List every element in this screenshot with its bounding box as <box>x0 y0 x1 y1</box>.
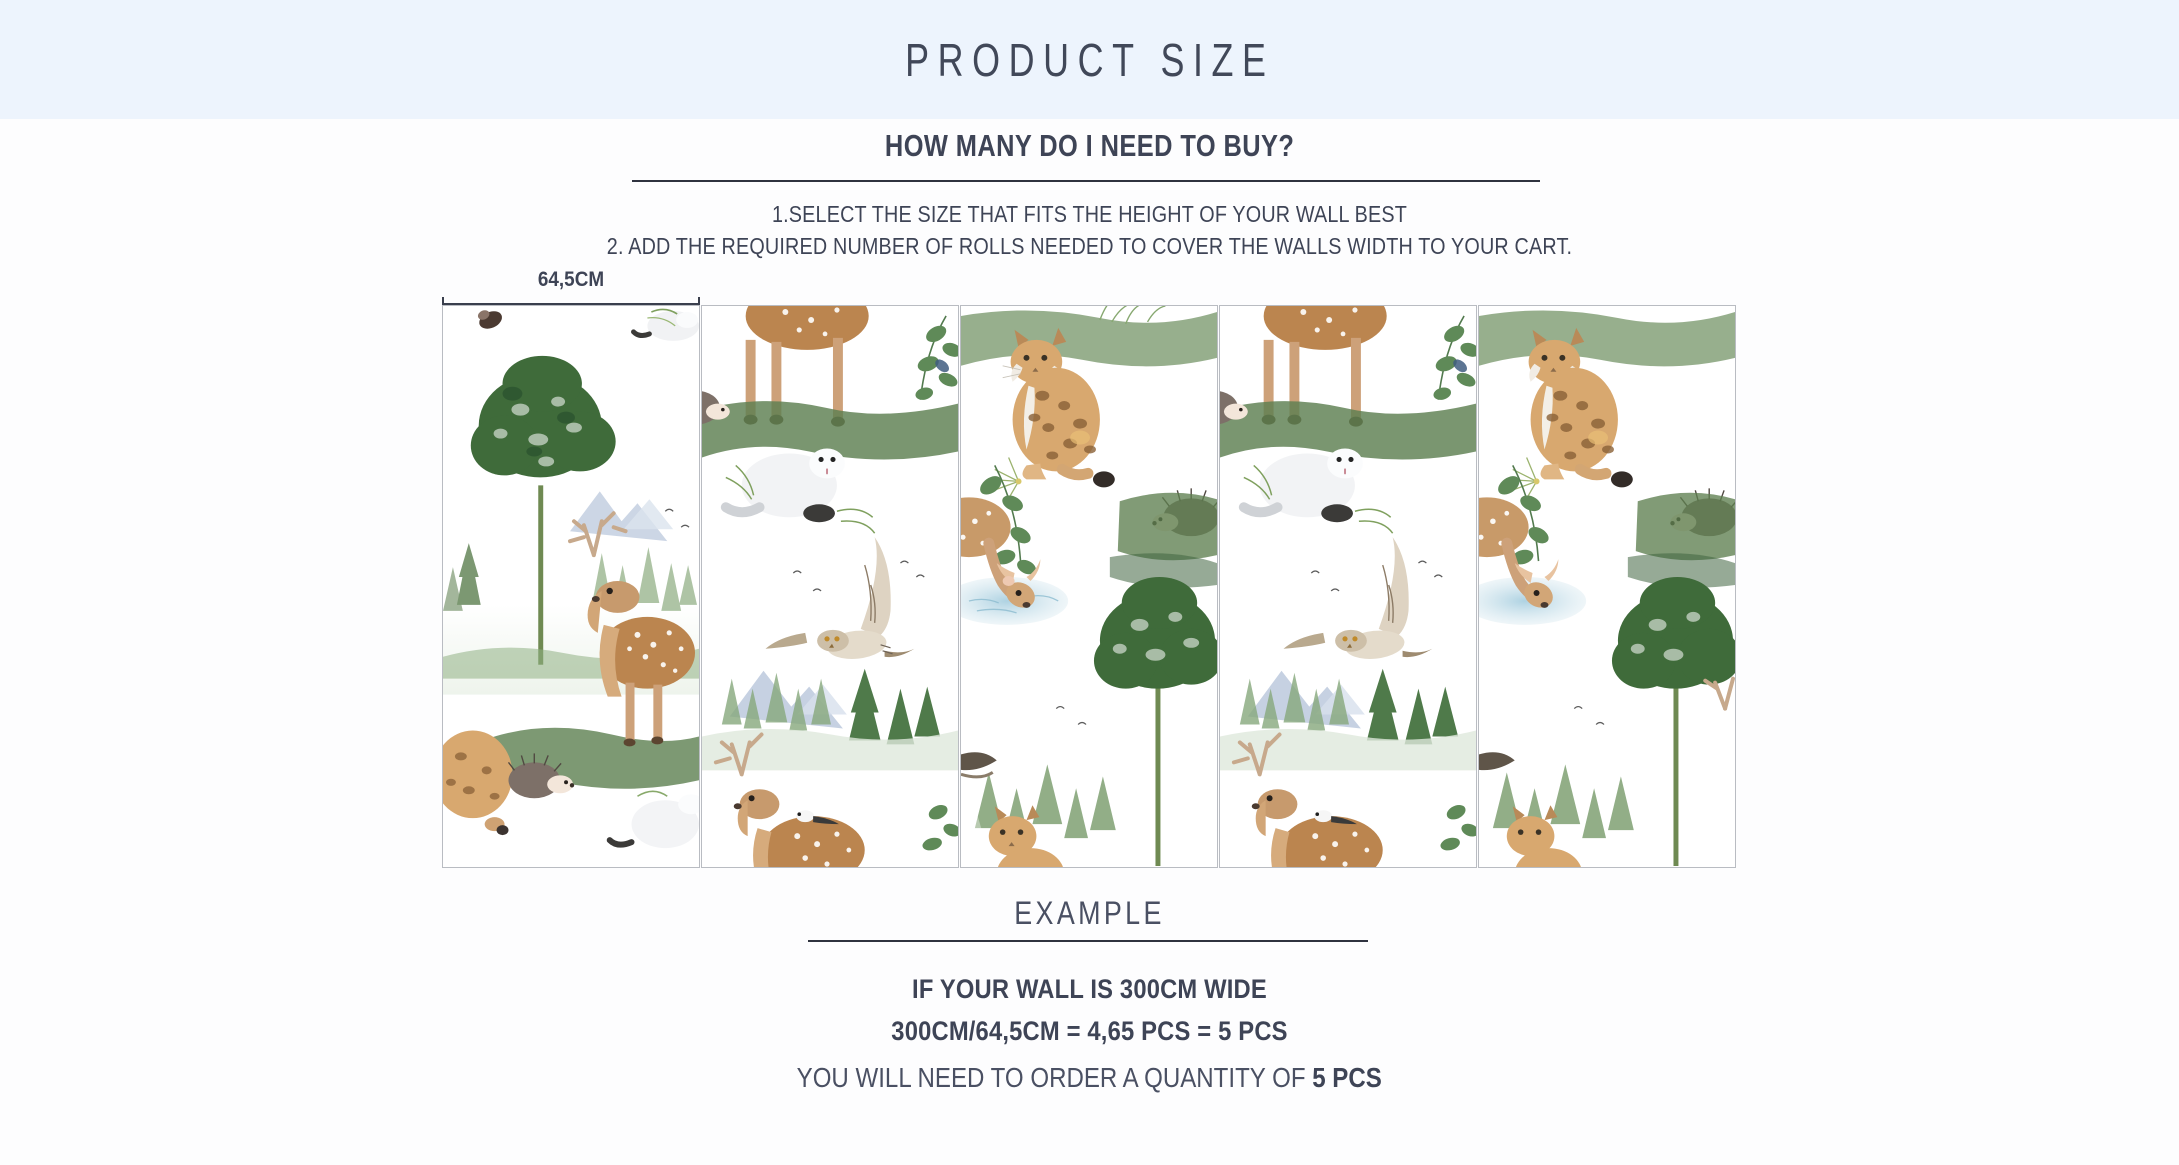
steps-list: 1.SELECT THE SIZE THAT FITS THE HEIGHT O… <box>0 198 2179 262</box>
example-heading: EXAMPLE <box>174 895 2004 932</box>
example-conclusion-value: 5 PCS <box>1312 1062 1382 1093</box>
example-conclusion: YOU WILL NEED TO ORDER A QUANTITY OF 5 P… <box>0 1062 2179 1094</box>
example-conclusion-prefix: YOU WILL NEED TO ORDER A QUANTITY OF <box>797 1062 1313 1093</box>
wallpaper-panel[interactable] <box>1478 305 1736 868</box>
header-band: PRODUCT SIZE <box>0 0 2179 119</box>
intro-section: HOW MANY DO I NEED TO BUY? <box>0 128 2179 164</box>
wallpaper-panel[interactable] <box>960 305 1218 868</box>
page-title: PRODUCT SIZE <box>905 33 1274 87</box>
wallpaper-artwork <box>1479 306 1735 867</box>
example-divider <box>808 940 1368 942</box>
wallpaper-artwork <box>443 306 699 867</box>
step-item-1: 1.SELECT THE SIZE THAT FITS THE HEIGHT O… <box>153 198 2027 230</box>
example-formula: 300CM/64,5CM = 4,65 PCS = 5 PCS <box>131 1010 2049 1052</box>
wallpaper-panel[interactable] <box>442 305 700 868</box>
wallpaper-artwork <box>961 306 1217 867</box>
wallpaper-artwork <box>702 306 958 867</box>
example-wall-width: IF YOUR WALL IS 300CM WIDE <box>131 968 2049 1010</box>
wallpaper-panel[interactable] <box>701 305 959 868</box>
wallpaper-artwork <box>1220 306 1476 867</box>
wallpaper-panel-strip <box>442 305 1736 868</box>
intro-heading: HOW MANY DO I NEED TO BUY? <box>885 128 1294 164</box>
step-item-2: 2. ADD THE REQUIRED NUMBER OF ROLLS NEED… <box>153 230 2027 262</box>
dimension-label: 64,5CM <box>455 268 687 292</box>
intro-divider <box>632 180 1540 182</box>
example-calculation: IF YOUR WALL IS 300CM WIDE 300CM/64,5CM … <box>0 968 2179 1052</box>
wallpaper-panel[interactable] <box>1219 305 1477 868</box>
